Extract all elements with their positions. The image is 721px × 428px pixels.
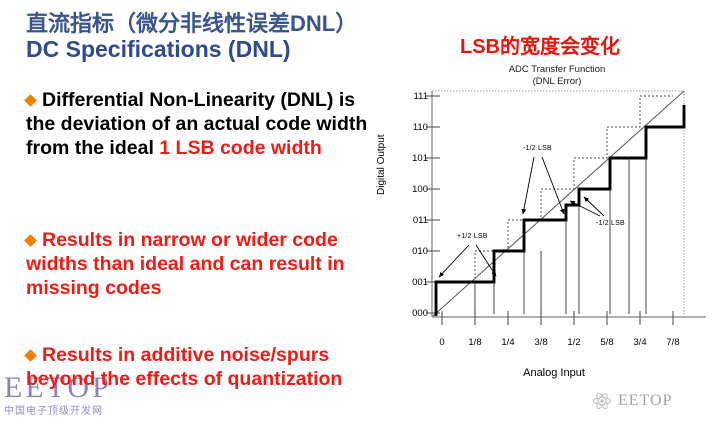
slide-canvas: 直流指标（微分非线性误差DNL） DC Specifications (DNL)…: [0, 0, 721, 428]
chart-plot-area: [384, 85, 714, 385]
bullet-item-2: Results in narrow or wider code widths t…: [26, 228, 378, 300]
annotation-arrows-3: [570, 197, 604, 216]
code-transition-droplines: [475, 158, 646, 314]
bullet-1-prefix: ideal: [109, 137, 159, 159]
atom-icon: [592, 392, 612, 410]
chart-y-ticks: [426, 96, 440, 313]
adc-transfer-function-chart: Digital Output Analog Input 000 001 010 …: [384, 85, 714, 385]
diamond-bullet-icon: [24, 94, 37, 107]
eetop-logo: EETOP: [592, 392, 672, 410]
annotation-arrows-2: [523, 157, 564, 214]
bullet-1-emphasis: 1 LSB code width: [159, 137, 322, 159]
actual-transfer-curve: [436, 105, 684, 316]
chart-x-ticks: [442, 311, 673, 325]
diamond-bullet-icon: [24, 349, 37, 362]
bullet-item-3: Results in additive noise/spurs beyond t…: [26, 343, 378, 391]
diamond-bullet-icon: [24, 234, 37, 247]
ideal-code-width-dotted: [442, 96, 673, 282]
bullet-item-1: Differential Non-Linearity (DNL) is the …: [26, 88, 378, 160]
annotation-arrows-1: [439, 245, 496, 277]
page-title-english: DC Specifications (DNL): [26, 36, 291, 63]
page-title-chinese: 直流指标（微分非线性误差DNL）: [26, 6, 357, 38]
bullet-3-text: Results in additive noise/spurs beyond t…: [26, 344, 342, 390]
watermark-subtitle: 中国电子顶级开发网: [4, 402, 194, 417]
chart-title-main: ADC Transfer Function: [437, 64, 677, 76]
chart-heading-chinese: LSB的宽度会变化: [460, 30, 620, 59]
eetop-logo-word: EETOP: [618, 392, 672, 410]
bullet-2-text: Results in narrow or wider code widths t…: [26, 229, 345, 299]
